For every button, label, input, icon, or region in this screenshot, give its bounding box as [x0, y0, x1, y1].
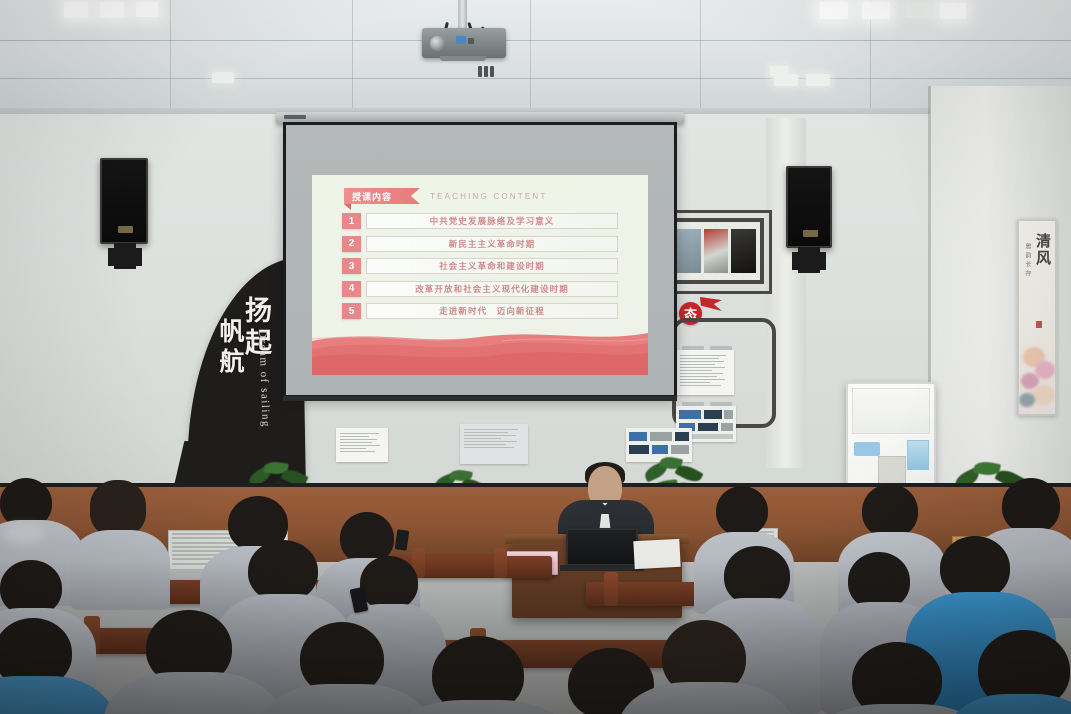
- slide-item-text: 中共党史发展脉络及学习意义: [430, 215, 555, 227]
- slide-item-number: 2: [342, 236, 361, 252]
- speaker-bracket: [114, 243, 136, 269]
- slide-banner-tail: [344, 204, 351, 210]
- slide-banner-english: TEACHING CONTENT: [430, 192, 547, 201]
- projector-mount-plate: [440, 56, 486, 61]
- slide-item-text: 改革开放和社会主义现代化建设时期: [415, 283, 569, 295]
- slide-item-number: 5: [342, 303, 361, 319]
- ceiling: [0, 0, 1071, 118]
- seat-armrest: [604, 572, 618, 606]
- speaker-bracket: [798, 247, 820, 273]
- slide-outline-item: 5 走进新时代 迈向新征程: [342, 303, 618, 319]
- photo-display-frame: [668, 218, 764, 284]
- ceiling-light-panel: [940, 3, 966, 19]
- posted-document: [676, 350, 734, 395]
- slide-item-number: 1: [342, 213, 361, 229]
- presenter-laptop: [566, 528, 638, 566]
- photo-thumbnail: [676, 229, 701, 273]
- photo-thumbnail: [704, 229, 729, 273]
- ceiling-light-panel: [100, 2, 124, 18]
- slide-item-number: 4: [342, 281, 361, 297]
- ceiling-light-panel: [906, 2, 930, 18]
- posted-document: [336, 428, 388, 462]
- slide-item-body: 中共党史发展脉络及学习意义: [366, 213, 618, 229]
- posted-document: [460, 424, 528, 464]
- wall-art-calligraphy-sub: 帆航: [212, 318, 248, 378]
- speaker-bracket: [108, 248, 116, 266]
- ceiling-light-panel: [64, 2, 88, 18]
- screen-housing-label: [284, 115, 306, 119]
- presentation-slide: 授课内容 TEACHING CONTENT 1 中共党史发展脉络及学习意义 2 …: [312, 175, 648, 375]
- slide-item-body: 新民主主义革命时期: [366, 236, 618, 252]
- speaker-bracket: [792, 252, 800, 270]
- slide-outline-item: 1 中共党史发展脉络及学习意义: [342, 213, 618, 229]
- slide-item-body: 走进新时代 迈向新征程: [366, 303, 618, 319]
- ac-top-vent: [852, 388, 930, 434]
- ac-energy-label: [907, 440, 929, 470]
- seat-armrest: [494, 548, 507, 578]
- slide-outline-item: 2 新民主主义革命时期: [342, 236, 618, 252]
- speaker-bracket: [818, 252, 826, 270]
- lecture-hall-scene: 扬起 帆航 Dream of sailing 动 态: [0, 0, 1071, 714]
- ceiling-light-panel: [806, 74, 830, 86]
- projector-lens: [430, 36, 445, 51]
- slide-wave-graphic: [312, 319, 648, 375]
- slide-item-text: 走进新时代 迈向新征程: [439, 305, 545, 317]
- slide-item-body: 社会主义革命和建设时期: [366, 258, 618, 274]
- ceiling-light-panel: [136, 2, 158, 17]
- ceiling-light-panel: [770, 66, 788, 76]
- screen-bottom-bar: [283, 396, 677, 401]
- slide-banner: 授课内容: [344, 188, 420, 204]
- ceiling-light-panel: [862, 2, 890, 19]
- paper-stack: [633, 539, 680, 569]
- scroll-calligraphy: 清风: [1033, 233, 1054, 267]
- slide-item-body: 改革开放和社会主义现代化建设时期: [366, 281, 618, 297]
- slide-banner-label: 授课内容: [352, 190, 392, 203]
- laptop-base: [560, 565, 644, 571]
- slide-outline-item: 4 改革开放和社会主义现代化建设时期: [342, 281, 618, 297]
- slide-item-text: 新民主主义革命时期: [449, 238, 535, 250]
- scroll-artwork: 清风 雅韵长存: [1017, 219, 1057, 416]
- photo-thumbnail: [731, 229, 756, 273]
- slide-item-number: 3: [342, 258, 361, 274]
- slide-item-text: 社会主义革命和建设时期: [439, 260, 545, 272]
- ac-brand-logo: [854, 442, 880, 456]
- scroll-seal-stamp: [1036, 321, 1042, 328]
- ceiling-light-panel: [820, 2, 848, 19]
- slide-outline-item: 3 社会主义革命和建设时期: [342, 258, 618, 274]
- ceiling-light-panel: [212, 72, 234, 83]
- speaker-bracket: [134, 248, 142, 266]
- wall-speaker-right: [786, 166, 832, 248]
- slide-outline-list: 1 中共党史发展脉络及学习意义 2 新民主主义革命时期 3 社会主义革命和建设时…: [342, 213, 618, 326]
- scroll-side-text: 雅韵长存: [1023, 243, 1032, 279]
- projector-mount-pole: [458, 0, 467, 30]
- wall-speaker-left: [100, 158, 148, 244]
